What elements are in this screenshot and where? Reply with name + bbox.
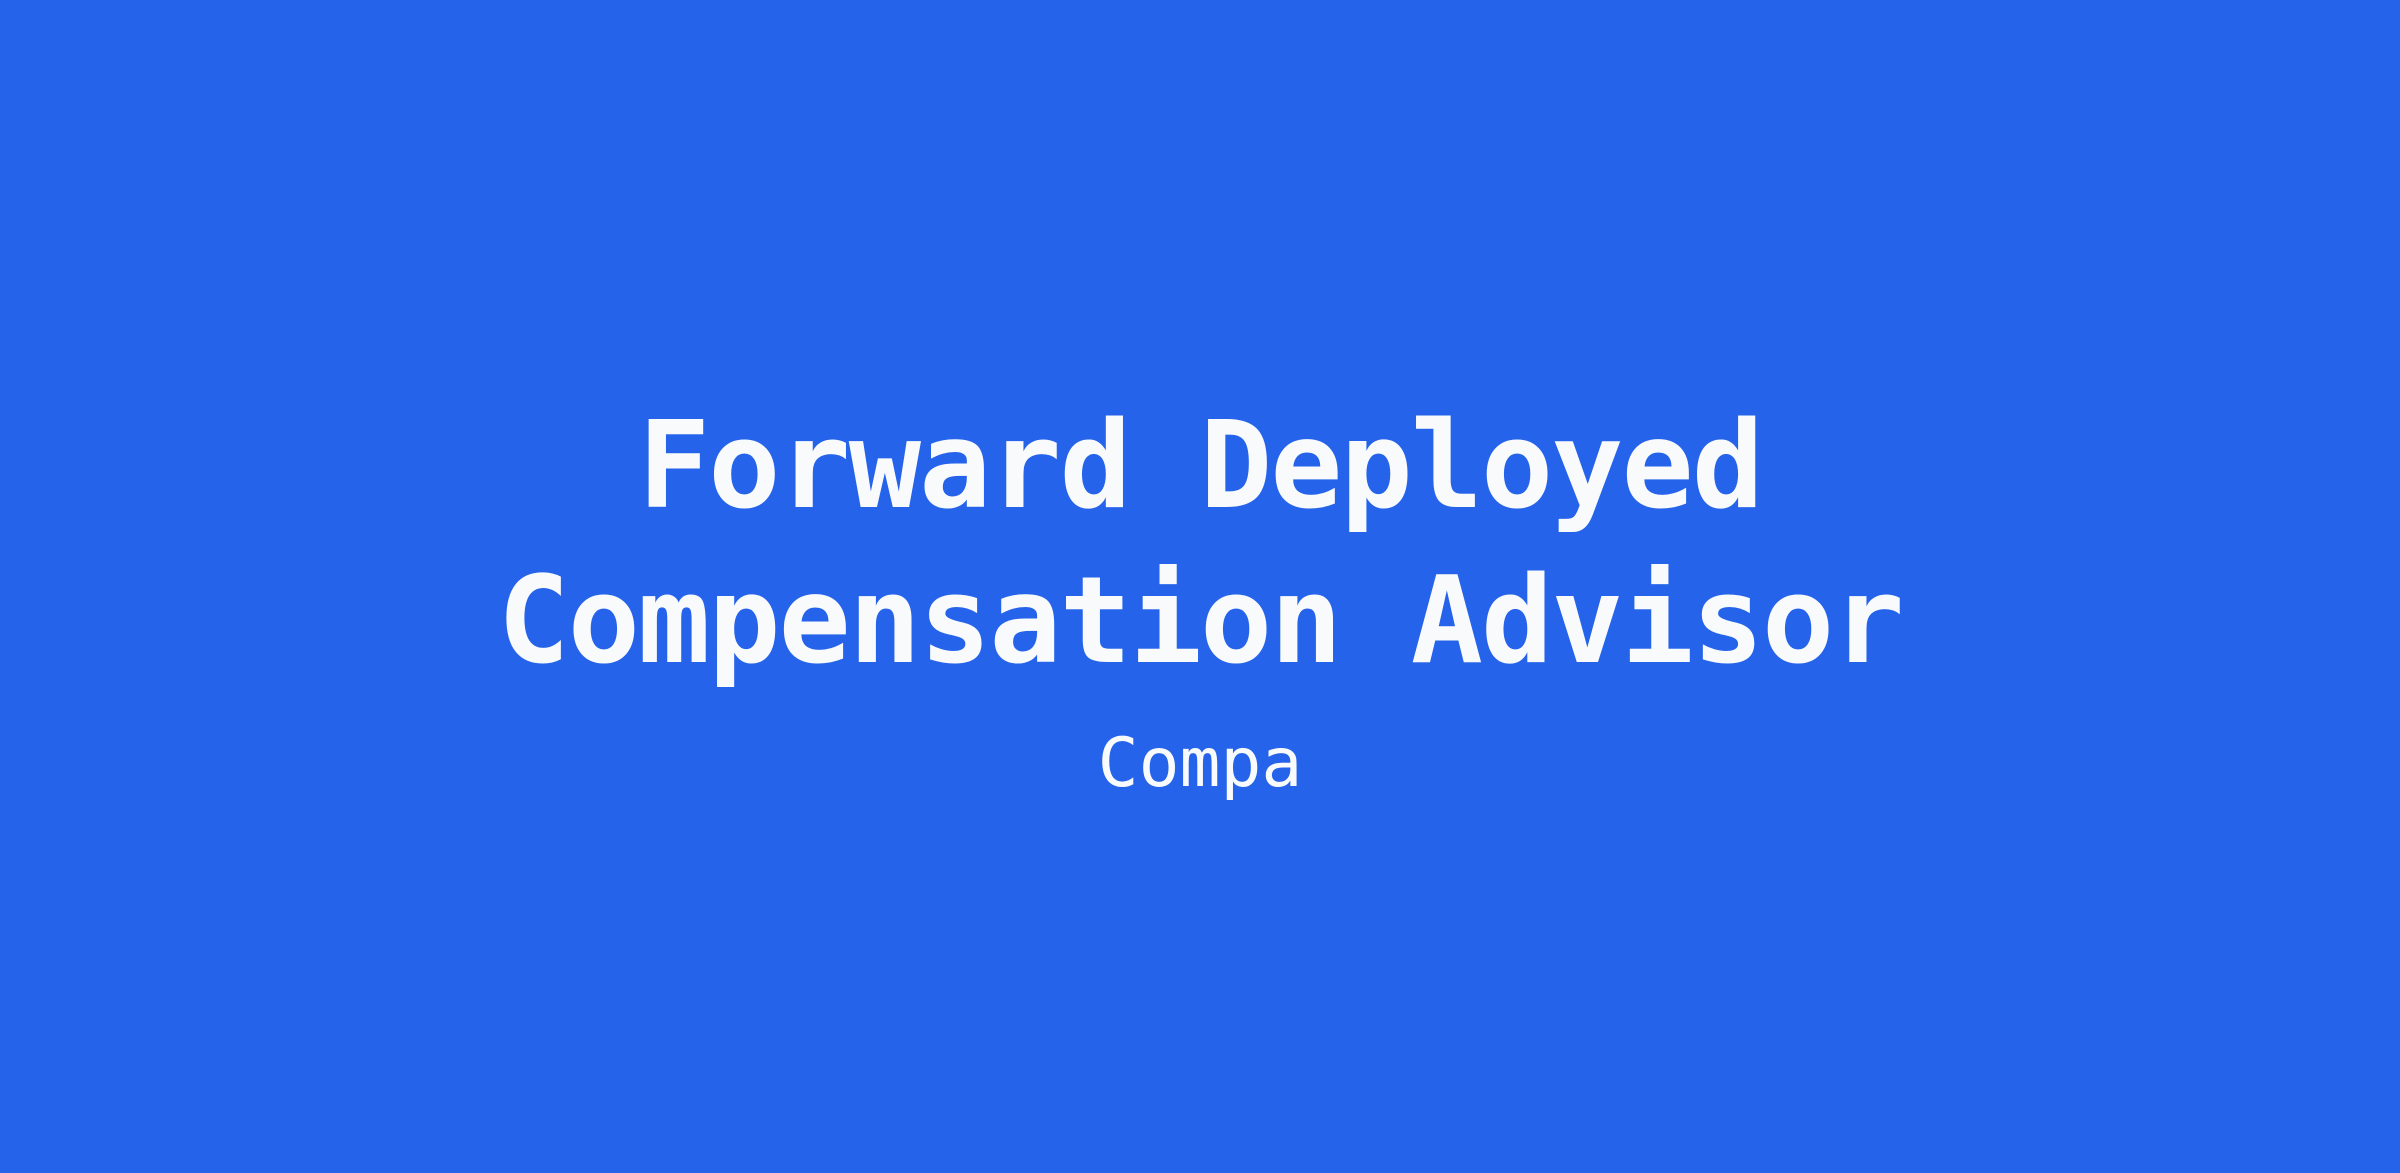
slide-content-block: Forward Deployed Compensation Advisor Co…: [0, 389, 2400, 805]
page-subtitle: Compa: [1098, 723, 1303, 805]
page-title-line-1: Forward Deployed: [498, 389, 1903, 544]
page-title-line-2: Compensation Advisor: [498, 544, 1903, 699]
title-slide: Forward Deployed Compensation Advisor Co…: [0, 0, 2400, 1173]
page-title: Forward Deployed Compensation Advisor: [498, 389, 1903, 699]
